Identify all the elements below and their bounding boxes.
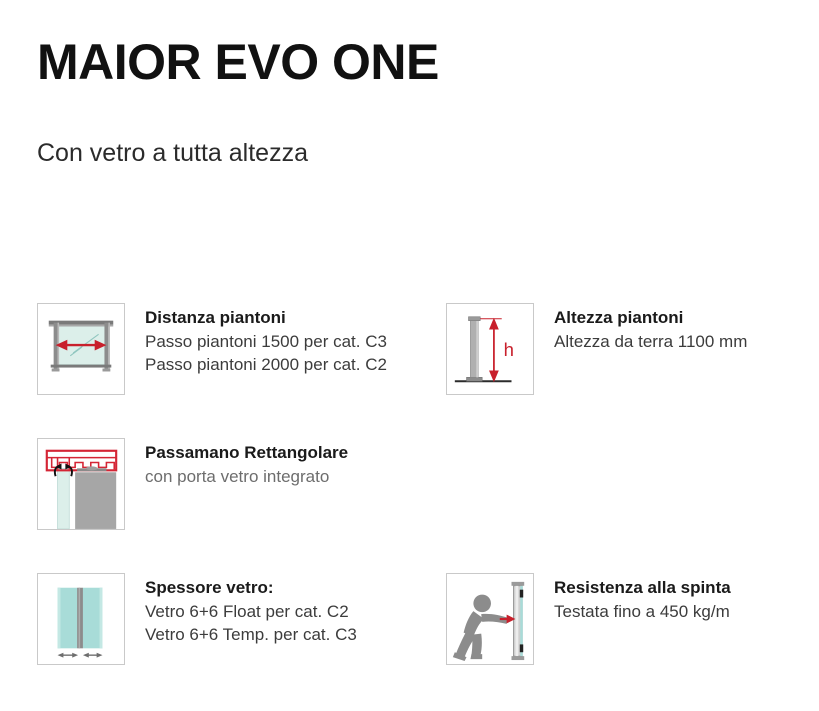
feature-item-passamano-rettangolare: Passamano Rettangolare con porta vetro i… [37, 438, 348, 530]
feature-heading: Resistenza alla spinta [554, 577, 731, 600]
feature-heading: Spessore vetro: [145, 577, 357, 600]
icon-label-h: h [504, 339, 514, 360]
page-title: MAIOR EVO ONE [37, 36, 439, 89]
feature-text-block: Passamano Rettangolare con porta vetro i… [145, 438, 348, 488]
feature-item-spessore-vetro: Spessore vetro: Vetro 6+6 Float per cat.… [37, 573, 357, 665]
feature-line: Vetro 6+6 Temp. per cat. C3 [145, 623, 357, 646]
railing-glass-span-icon [37, 303, 125, 395]
feature-heading: Altezza piantoni [554, 307, 747, 330]
post-height-dimension-icon: h [446, 303, 534, 395]
laminated-glass-thickness-icon [37, 573, 125, 665]
feature-line: con porta vetro integrato [145, 465, 348, 488]
feature-heading: Passamano Rettangolare [145, 442, 348, 465]
feature-line: Vetro 6+6 Float per cat. C2 [145, 600, 357, 623]
feature-line: Testata fino a 450 kg/m [554, 600, 731, 623]
feature-item-distanza-piantoni: Distanza piantoni Passo piantoni 1500 pe… [37, 303, 387, 395]
page-subtitle: Con vetro a tutta altezza [37, 138, 308, 168]
feature-heading: Distanza piantoni [145, 307, 387, 330]
feature-text-block: Altezza piantoni Altezza da terra 1100 m… [554, 303, 747, 353]
feature-item-altezza-piantoni: h Altezza piantoni Altezza da terra 1100… [446, 303, 747, 395]
handrail-profile-section-icon [37, 438, 125, 530]
feature-item-resistenza-alla-spinta: Resistenza alla spinta Testata fino a 45… [446, 573, 731, 665]
person-pushing-barrier-icon [446, 573, 534, 665]
feature-line: Passo piantoni 2000 per cat. C2 [145, 353, 387, 376]
feature-text-block: Distanza piantoni Passo piantoni 1500 pe… [145, 303, 387, 377]
feature-text-block: Resistenza alla spinta Testata fino a 45… [554, 573, 731, 623]
feature-line: Altezza da terra 1100 mm [554, 330, 747, 353]
feature-text-block: Spessore vetro: Vetro 6+6 Float per cat.… [145, 573, 357, 647]
feature-line: Passo piantoni 1500 per cat. C3 [145, 330, 387, 353]
